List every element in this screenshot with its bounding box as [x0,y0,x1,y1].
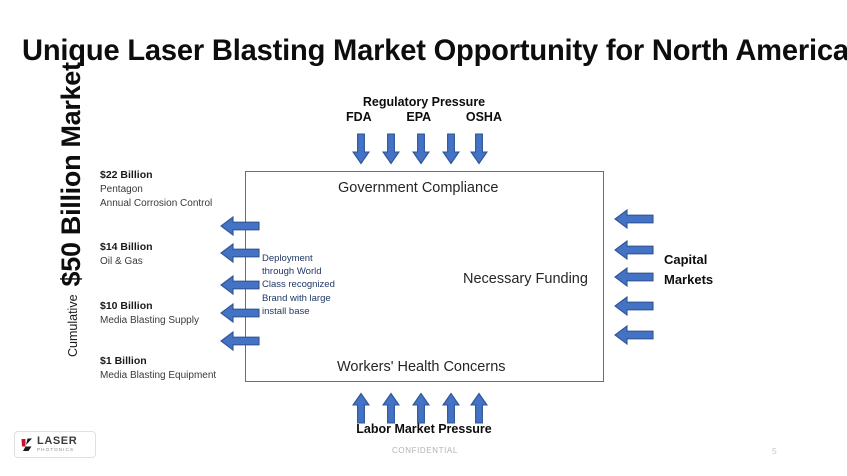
agency-label-osha: OSHA [466,110,502,124]
cumulative-market-axis-label: Cumulative $50 Billion Market [17,127,87,357]
market-tier-amount: $1 Billion [100,354,245,369]
up-arrow-2 [382,392,400,424]
capital-arrow-1 [614,209,654,229]
regulatory-pressure-group: Regulatory Pressure FDA EPA OSHA [344,95,504,124]
capital-markets-line1: Capital [664,250,713,270]
up-arrow-4 [442,392,460,424]
down-arrow-2 [382,133,400,165]
footer-page-number: 5 [772,446,777,456]
market-tier-description-line2: Annual Corrosion Control [100,197,245,211]
slide-canvas: Unique Laser Blasting Market Opportunity… [0,0,847,476]
down-arrow-1 [352,133,370,165]
capital-arrow-5 [614,325,654,345]
cumulative-sublabel: Cumulative [66,286,87,357]
market-tier-4: $1 Billion Media Blasting Equipment [100,354,245,383]
regulatory-pressure-title: Regulatory Pressure [344,95,504,109]
up-arrow-5 [470,392,488,424]
left-arrow-tier-4 [220,303,260,323]
left-arrow-tier-5 [220,331,260,351]
labor-market-pressure-label: Labor Market Pressure [344,422,504,436]
logo-name-secondary: PHOTONICS [37,447,77,453]
market-tier-description-line1: Media Blasting Equipment [100,369,245,383]
company-logo: LASER PHOTONICS [14,431,96,458]
deployment-note-line5: install base [262,305,350,318]
down-arrow-3 [412,133,430,165]
deployment-note: Deployment through World Class recognize… [262,252,350,318]
agency-label-epa: EPA [406,110,431,124]
capital-markets-label: Capital Markets [664,250,713,290]
capital-arrow-4 [614,296,654,316]
down-arrow-5 [470,133,488,165]
agency-label-fda: FDA [346,110,372,124]
left-arrow-tier-1 [220,216,260,236]
footer-confidential-label: CONFIDENTIAL [392,446,458,455]
deployment-note-line2: through World [262,265,350,278]
cumulative-total-label: $50 Billion Market [56,62,87,286]
box-label-workers-health-concerns: Workers' Health Concerns [337,359,506,375]
logo-name-primary: LASER [37,436,77,447]
deployment-note-line1: Deployment [262,252,350,265]
deployment-note-line4: Brand with large [262,292,350,305]
box-label-government-compliance: Government Compliance [338,180,498,196]
laser-photonics-mark-icon [19,437,35,453]
regulatory-agency-row: FDA EPA OSHA [344,109,504,124]
box-label-necessary-funding: Necessary Funding [463,271,588,287]
market-tier-1: $22 Billion Pentagon Annual Corrosion Co… [100,168,245,211]
market-tier-amount: $22 Billion [100,168,245,183]
left-arrow-tier-3 [220,275,260,295]
up-arrow-1 [352,392,370,424]
page-title: Unique Laser Blasting Market Opportunity… [22,34,808,68]
down-arrow-4 [442,133,460,165]
up-arrow-3 [412,392,430,424]
capital-arrow-3 [614,267,654,287]
market-tier-description-line1: Pentagon [100,183,245,197]
left-arrow-tier-2 [220,243,260,263]
capital-markets-line2: Markets [664,270,713,290]
deployment-note-line3: Class recognized [262,278,350,291]
capital-arrow-2 [614,240,654,260]
logo-text: LASER PHOTONICS [37,436,77,453]
